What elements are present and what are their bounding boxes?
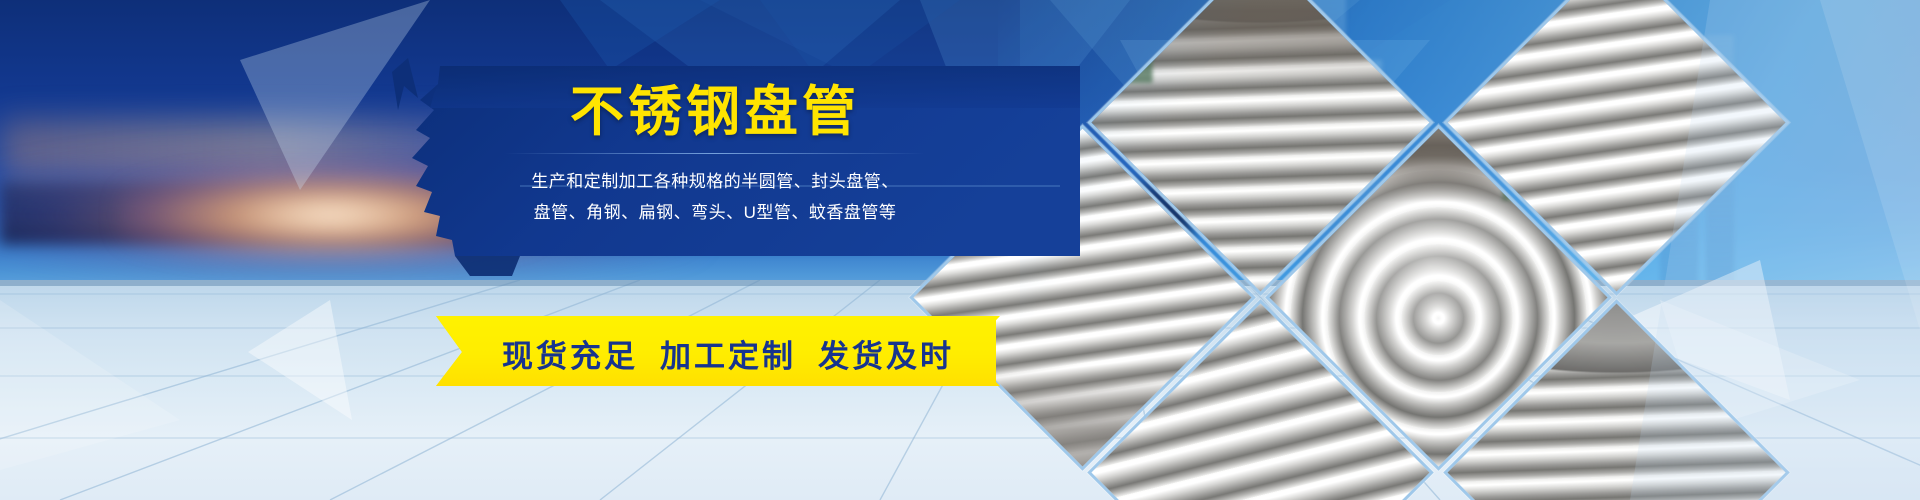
subtitle-line-1: 生产和定制加工各种规格的半圆管、封头盘管、 <box>505 166 925 197</box>
feature-item-1: 现货充足 <box>502 331 638 376</box>
arrow-accent <box>392 58 418 110</box>
feature-item-3: 发货及时 <box>818 331 954 376</box>
subtitle-line-2: 盘管、角钢、扁钢、弯头、U型管、蚊香盘管等 <box>505 197 925 228</box>
promo-banner: 不锈钢盘管 生产和定制加工各种规格的半圆管、封头盘管、 盘管、角钢、扁钢、弯头、… <box>0 0 1920 500</box>
title-divider <box>505 153 925 154</box>
headline-text-block: 不锈钢盘管 生产和定制加工各种规格的半圆管、封头盘管、 盘管、角钢、扁钢、弯头、… <box>505 85 925 229</box>
feature-item-2: 加工定制 <box>660 331 796 376</box>
feature-ribbon-text: 现货充足 加工定制 发货及时 <box>400 308 1020 398</box>
product-photo-mosaic <box>1020 0 1660 500</box>
page-title: 不锈钢盘管 <box>505 85 925 139</box>
